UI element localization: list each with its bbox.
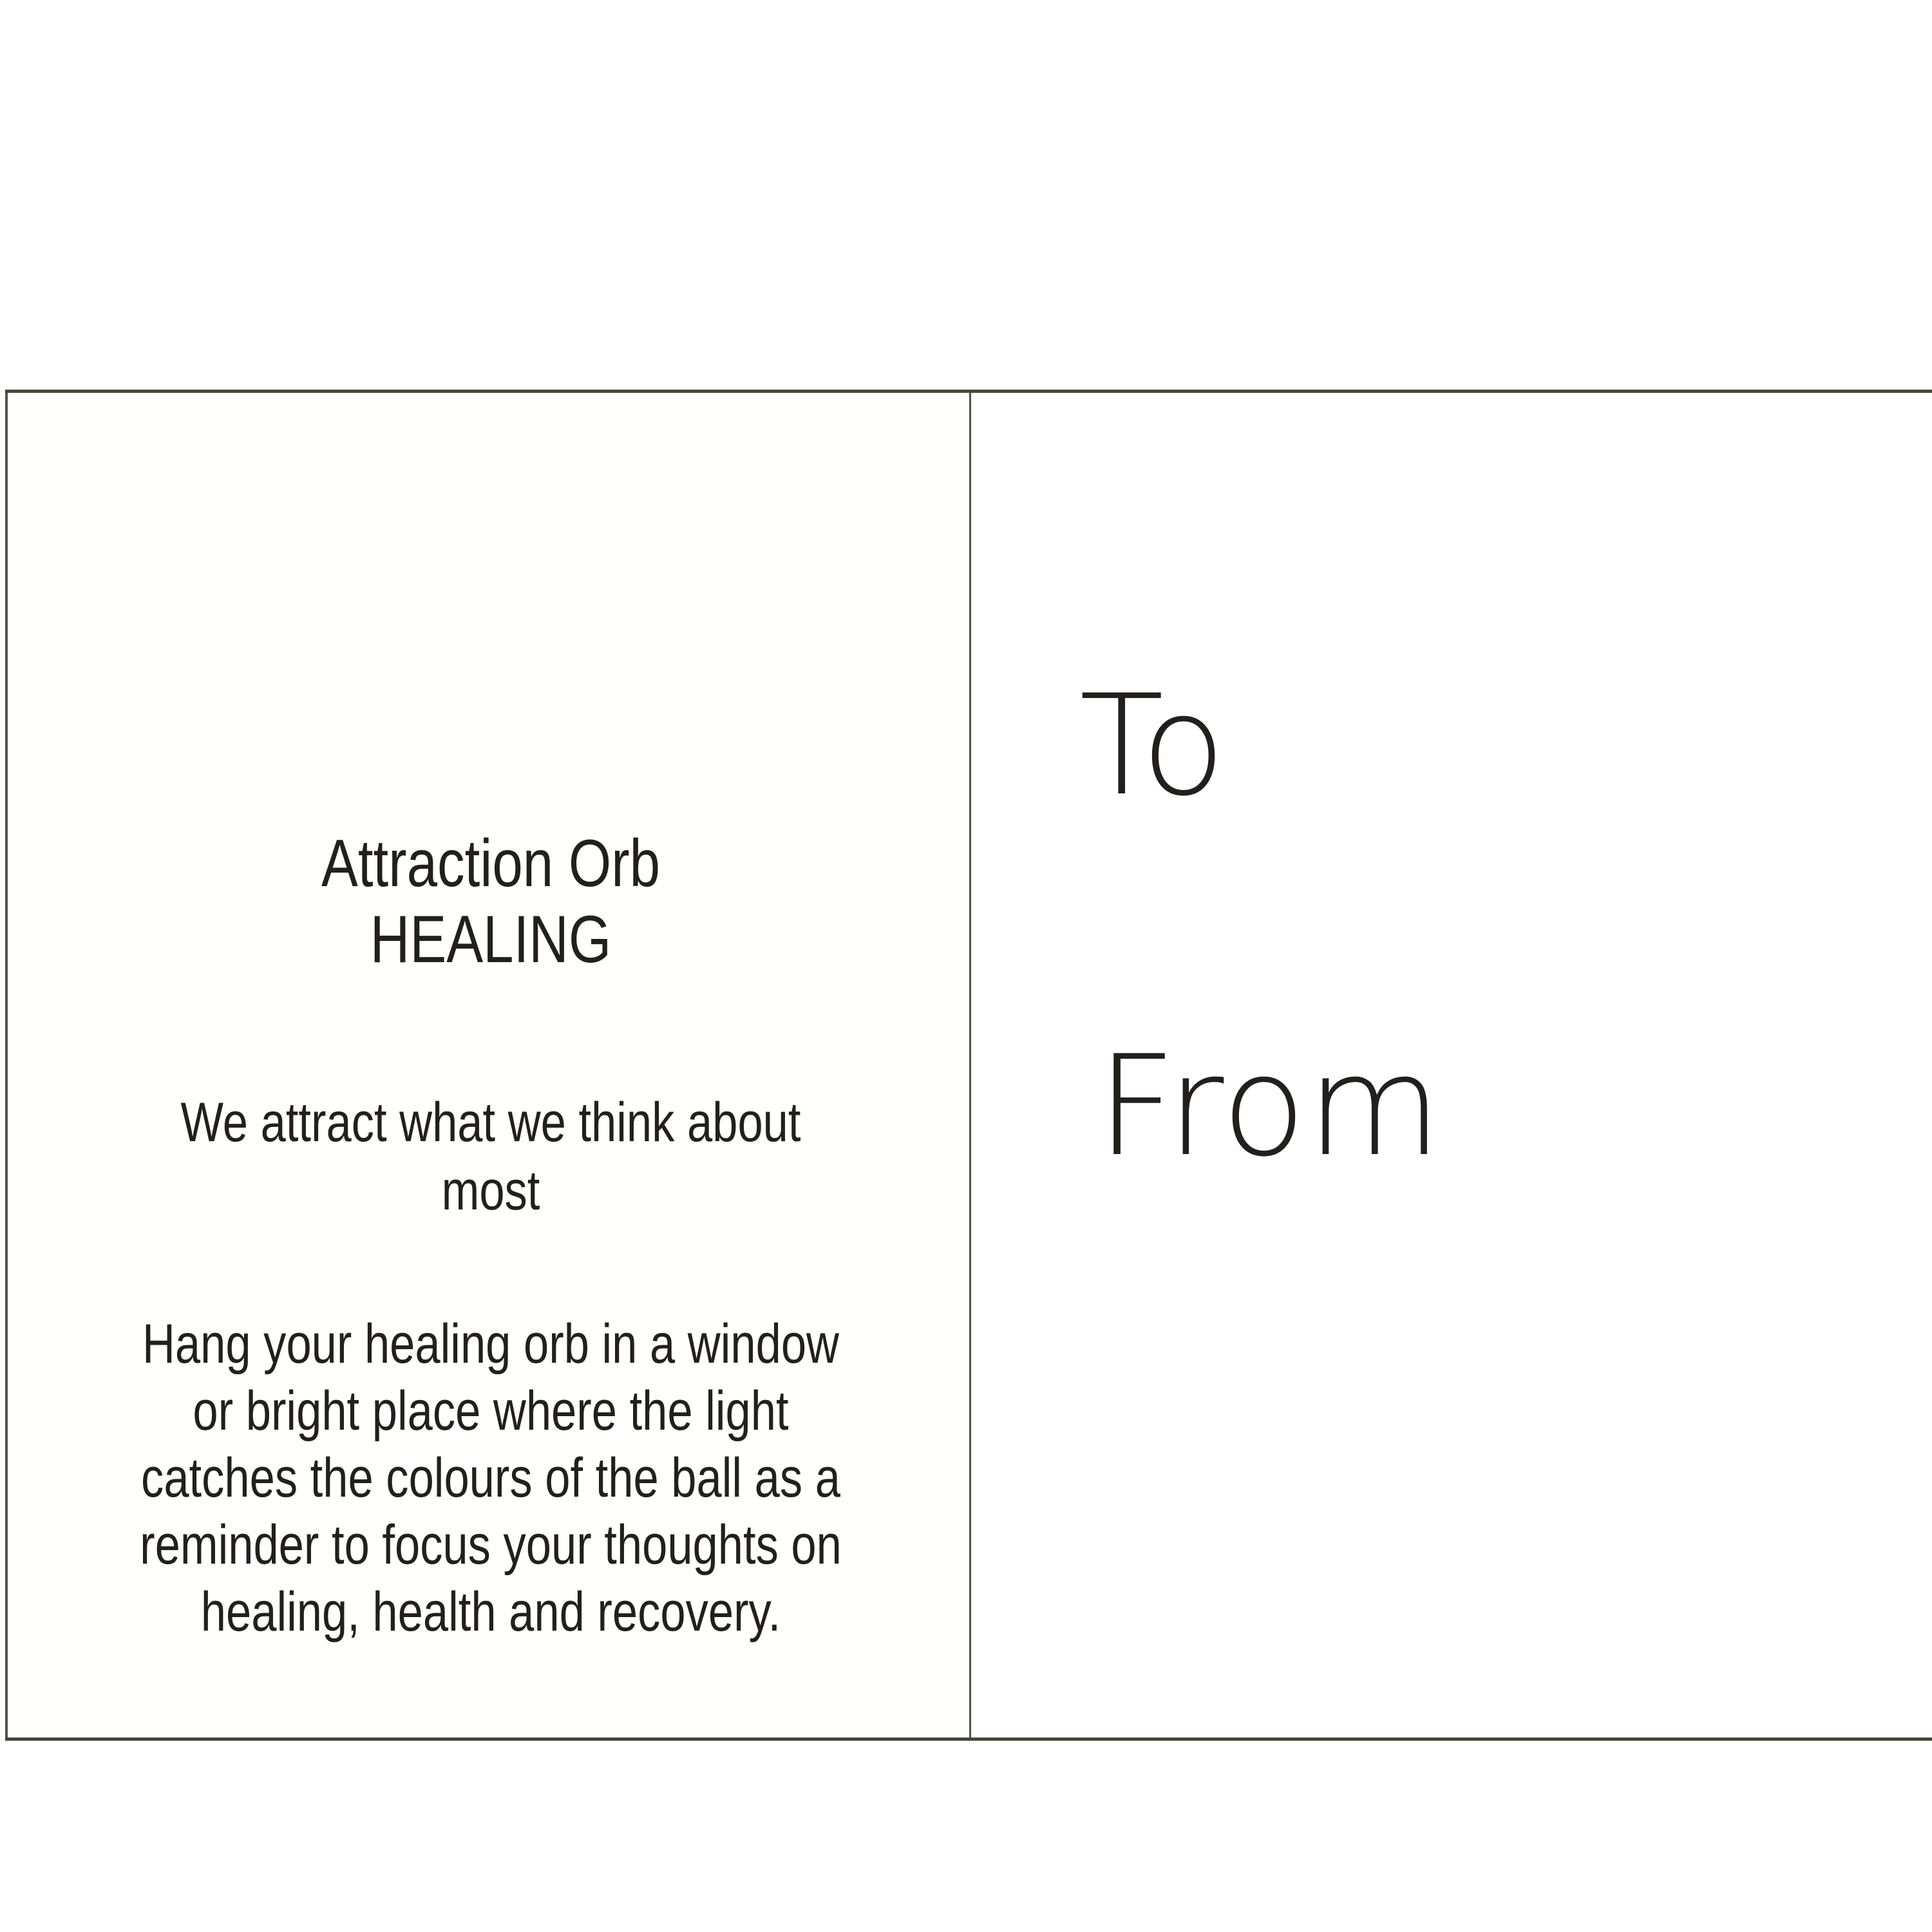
card-tagline: We attract what we think about most <box>95 1088 887 1225</box>
card-inner-right-panel: To From <box>973 393 1932 1738</box>
to-field-label: To <box>1079 676 1226 815</box>
card-instructions: Hang your healing orb in a window or bri… <box>95 1311 887 1645</box>
card-page: Attraction Orb HEALING We attract what w… <box>0 0 1932 1932</box>
from-field-label: From <box>1097 1037 1443 1175</box>
card-title-line-1: Attraction Orb <box>95 826 887 902</box>
card-footnote: Suitable for use inside or out <box>95 1927 887 1932</box>
greeting-card: Attraction Orb HEALING We attract what w… <box>5 390 1932 1741</box>
card-title-line-2: HEALING <box>95 902 887 978</box>
card-title: Attraction Orb HEALING <box>95 826 887 978</box>
card-inner-left-panel: Attraction Orb HEALING We attract what w… <box>5 393 971 1738</box>
